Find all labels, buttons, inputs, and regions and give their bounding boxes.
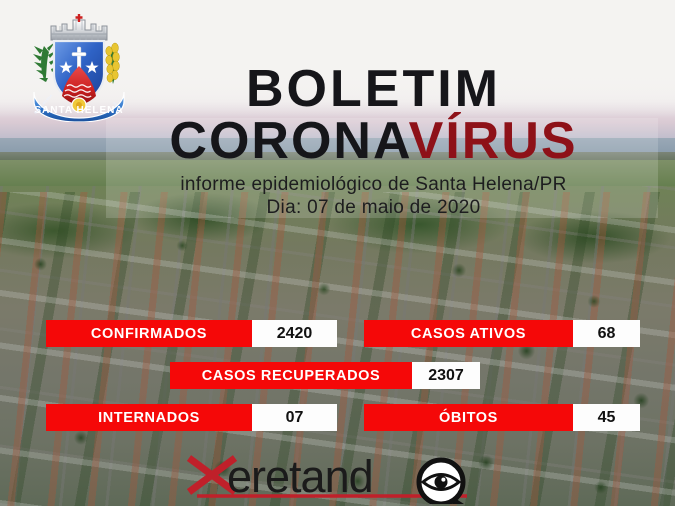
stat-casos-ativos-value: 68	[573, 320, 640, 347]
stat-confirmados-label: CONFIRMADOS	[46, 320, 252, 347]
subtitle-line-1: informe epidemiológico de Santa Helena/P…	[72, 173, 675, 196]
stat-internados-label: INTERNADOS	[46, 404, 252, 431]
stat-internados-value: 07	[252, 404, 337, 431]
xeretando-logo-svg: eretand	[183, 452, 493, 504]
stat-casos-ativos-label: CASOS ATIVOS	[364, 320, 573, 347]
stats-row-3: INTERNADOS 07 ÓBITOS 45	[0, 404, 675, 431]
subtitle-line-2: Dia: 07 de maio de 2020	[72, 196, 675, 219]
stats-row-2: CASOS RECUPERADOS 2307	[0, 362, 675, 389]
stat-obitos-value: 45	[573, 404, 640, 431]
title-coronavirus: CORONAVÍRUS	[72, 116, 675, 166]
stats-row-1: CONFIRMADOS 2420 CASOS ATIVOS 68	[0, 320, 675, 347]
header-title-block: BOLETIM CORONAVÍRUS informe epidemiológi…	[0, 62, 675, 219]
stat-casos-ativos[interactable]: CASOS ATIVOS 68	[364, 320, 640, 347]
title-virus-red: VÍRUS	[409, 112, 578, 170]
stat-obitos-label: ÓBITOS	[364, 404, 573, 431]
mural-crown-icon	[51, 14, 107, 40]
title-corona-black: CORONA	[169, 112, 408, 170]
stat-obitos[interactable]: ÓBITOS 45	[364, 404, 640, 431]
stat-casos-recuperados-label: CASOS RECUPERADOS	[170, 362, 412, 389]
coronavirus-bulletin-poster: SANTA HELENA SANTA HELENA PR BOLETIM COR…	[0, 0, 675, 506]
stat-internados[interactable]: INTERNADOS 07	[46, 404, 337, 431]
xeretando-logo[interactable]: eretand	[183, 452, 493, 504]
title-boletim: BOLETIM	[72, 62, 675, 116]
stat-casos-recuperados[interactable]: CASOS RECUPERADOS 2307	[170, 362, 480, 389]
stat-confirmados[interactable]: CONFIRMADOS 2420	[46, 320, 337, 347]
stat-confirmados-value: 2420	[252, 320, 337, 347]
stat-casos-recuperados-value: 2307	[412, 362, 480, 389]
statistics-panel: CONFIRMADOS 2420 CASOS ATIVOS 68 CASOS R…	[0, 320, 675, 446]
